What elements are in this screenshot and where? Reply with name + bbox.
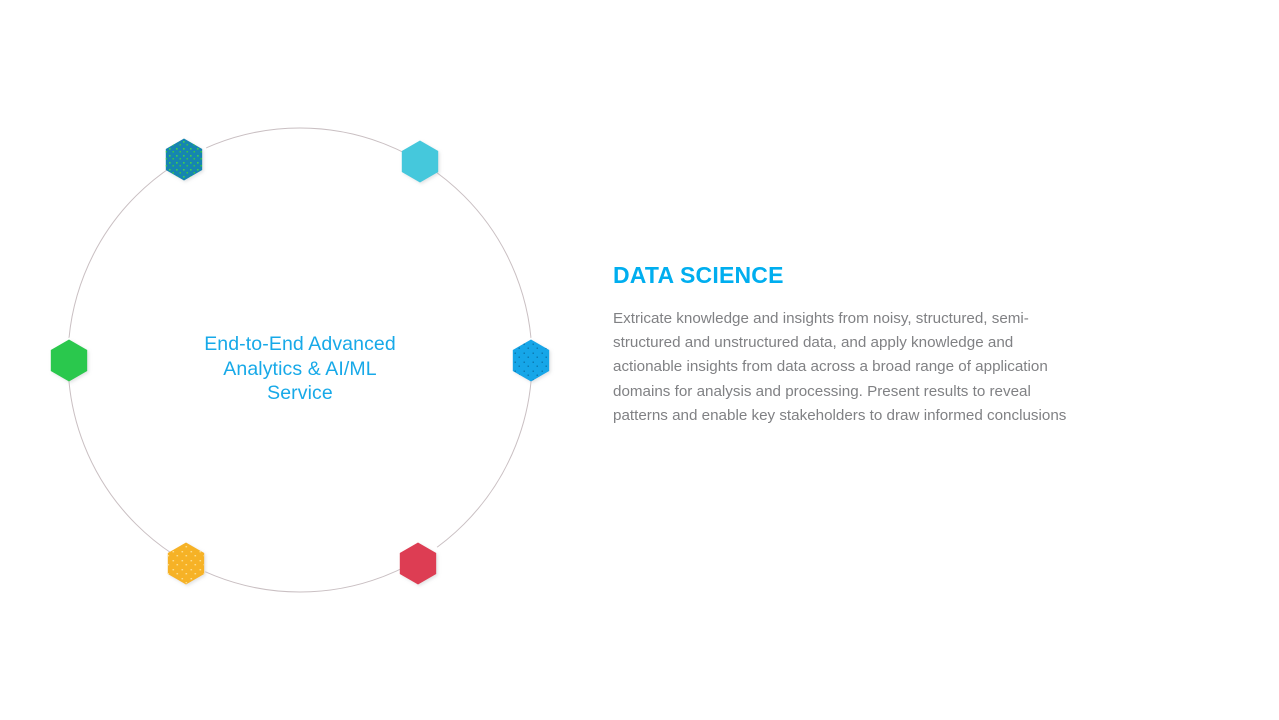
data-governance-node[interactable] xyxy=(168,539,208,585)
center-label-line-3: Service xyxy=(160,381,440,406)
data-engineering-node[interactable] xyxy=(166,135,206,181)
diagram-center-label: End-to-End Advanced Analytics & AI/ML Se… xyxy=(160,332,440,406)
diagram-panel: End-to-End Advanced Analytics & AI/ML Se… xyxy=(0,0,600,720)
visualization-node[interactable] xyxy=(400,539,440,585)
data-science-node[interactable] xyxy=(513,336,553,382)
center-label-line-1: End-to-End Advanced xyxy=(160,332,440,357)
machine-learning-node[interactable] xyxy=(402,137,442,183)
detail-title: DATA SCIENCE xyxy=(613,262,1083,289)
center-label-line-2: Analytics & AI/ML xyxy=(160,357,440,382)
detail-panel: DATA SCIENCE Extricate knowledge and ins… xyxy=(613,262,1083,428)
detail-description: Extricate knowledge and insights from no… xyxy=(613,307,1083,428)
data-strategy-node[interactable] xyxy=(51,336,91,382)
